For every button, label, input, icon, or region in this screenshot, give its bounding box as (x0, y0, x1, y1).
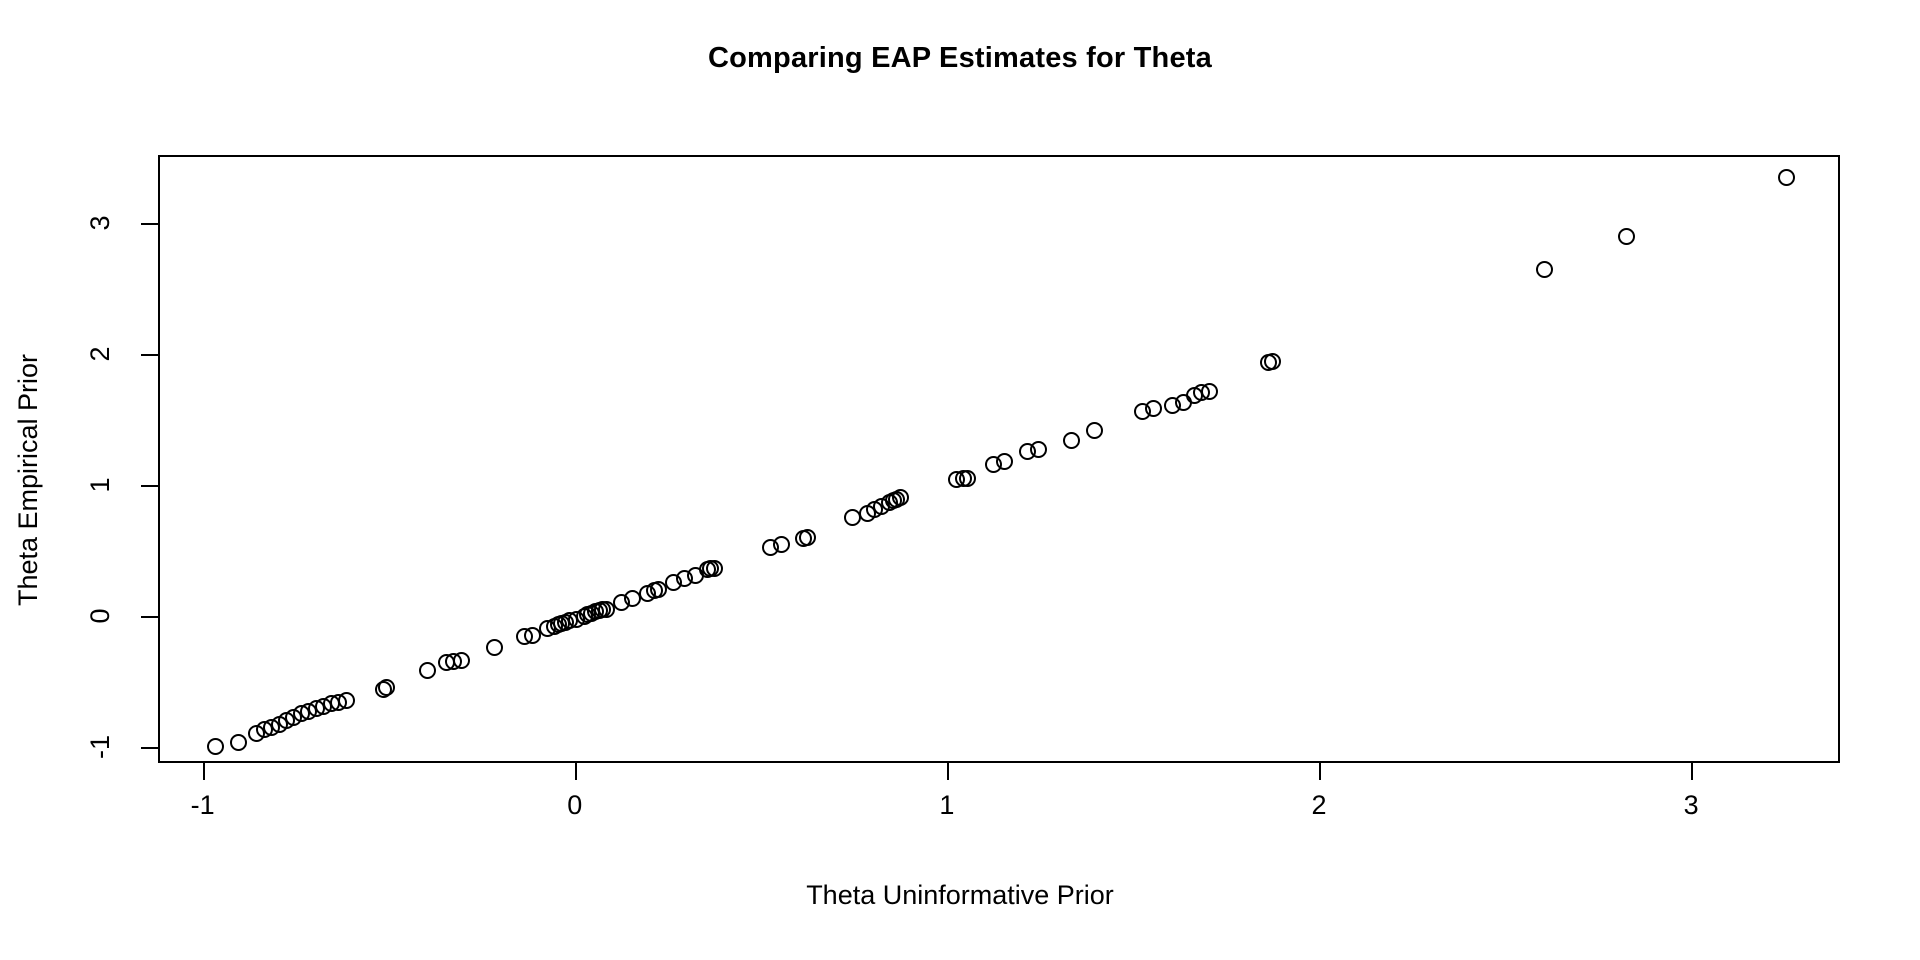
x-tick-mark (575, 763, 577, 780)
data-point (453, 652, 470, 669)
data-point (1778, 169, 1795, 186)
data-point (996, 453, 1013, 470)
y-tick-label: -1 (83, 717, 117, 777)
data-point (1145, 400, 1162, 417)
data-point (892, 489, 909, 506)
x-tick-mark (203, 763, 205, 780)
scatter-plot-figure: Comparing EAP Estimates for Theta Theta … (0, 0, 1920, 960)
data-point (1536, 261, 1553, 278)
x-tick-label: -1 (173, 790, 233, 821)
data-point (706, 560, 723, 577)
x-axis-label: Theta Uninformative Prior (0, 880, 1920, 911)
y-tick-mark (141, 485, 158, 487)
data-point (207, 738, 224, 755)
data-point (773, 536, 790, 553)
data-point (1086, 422, 1103, 439)
data-point (1618, 228, 1635, 245)
data-point (1264, 353, 1281, 370)
x-tick-label: 3 (1661, 790, 1721, 821)
data-point (486, 639, 503, 656)
x-tick-label: 2 (1289, 790, 1349, 821)
x-tick-mark (1691, 763, 1693, 780)
x-tick-mark (947, 763, 949, 780)
y-tick-mark (141, 747, 158, 749)
data-point (338, 692, 355, 709)
plot-area (158, 155, 1840, 763)
chart-title: Comparing EAP Estimates for Theta (0, 42, 1920, 75)
y-tick-label: 1 (83, 455, 117, 515)
y-tick-label: 2 (83, 324, 117, 384)
data-point (419, 662, 436, 679)
data-point (959, 470, 976, 487)
data-point (230, 734, 247, 751)
data-point (1063, 432, 1080, 449)
x-tick-label: 0 (545, 790, 605, 821)
data-point (378, 679, 395, 696)
y-tick-mark (141, 616, 158, 618)
x-tick-mark (1319, 763, 1321, 780)
y-tick-mark (141, 354, 158, 356)
x-tick-label: 1 (917, 790, 977, 821)
y-tick-label: 3 (83, 193, 117, 253)
y-tick-mark (141, 223, 158, 225)
data-point (799, 529, 816, 546)
data-point (1030, 441, 1047, 458)
data-point (1201, 383, 1218, 400)
y-axis-label: Theta Empirical Prior (0, 0, 56, 960)
y-tick-label: 0 (83, 586, 117, 646)
